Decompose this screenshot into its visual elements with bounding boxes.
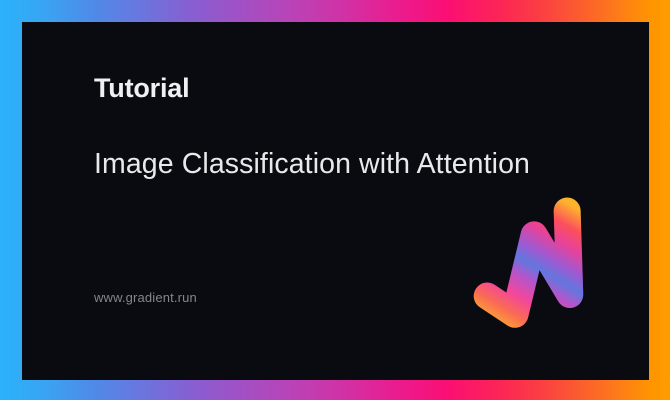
site-url-text: www.gradient.run (94, 290, 197, 307)
eyebrow-label: Tutorial (94, 74, 189, 104)
tutorial-card: Tutorial Image Classification with Atten… (22, 22, 649, 380)
gradient-border-frame: Tutorial Image Classification with Atten… (0, 0, 670, 400)
card-content: Tutorial Image Classification with Atten… (94, 22, 614, 380)
page-title: Image Classification with Attention (94, 147, 530, 183)
